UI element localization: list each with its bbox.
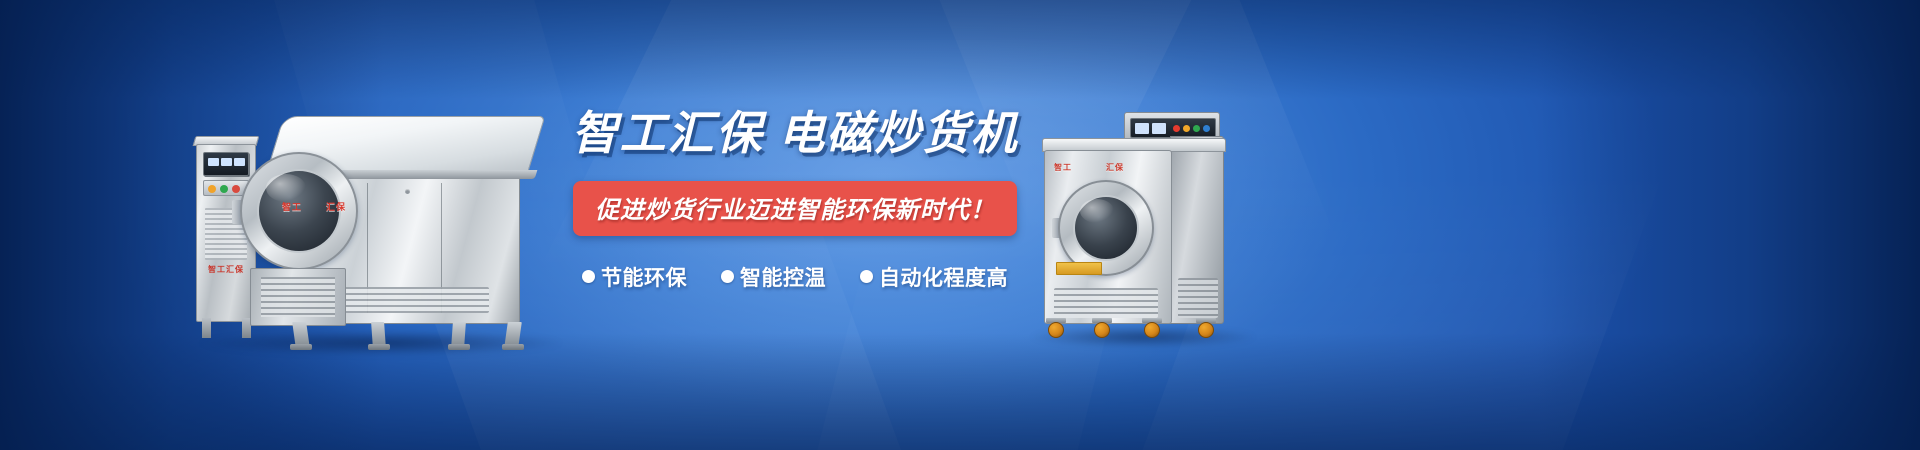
brand-plate: 汇保 (1106, 162, 1124, 173)
brand-plate: 汇保 (326, 200, 346, 213)
drum-highlight (1080, 199, 1114, 223)
promotional-banner: 智工汇保 智工 汇保 (0, 0, 1920, 450)
door-handle (405, 189, 410, 194)
banner-tagline-text: 促进炒货行业迈进智能环保新时代！ (595, 197, 995, 224)
feature-label: 自动化程度高 (879, 262, 1008, 292)
body-vent (1054, 288, 1158, 318)
machine-foot (368, 344, 390, 350)
display-segment (208, 158, 219, 166)
indicator-light (1183, 125, 1190, 132)
banner-copy: 智工汇保 电磁炒货机 促进炒货行业迈进智能环保新时代！ 节能环保 智能控温 自动… (560, 108, 1030, 292)
feature-label: 节能环保 (601, 262, 687, 292)
cabinet-foot (202, 318, 211, 338)
feature-list: 节能环保 智能控温 自动化程度高 (560, 262, 1030, 292)
stand-vent (261, 277, 335, 317)
product-image-roaster-large: 智工汇保 智工 汇保 (176, 96, 546, 348)
caster-wheel (1094, 322, 1110, 338)
side-vent (1178, 278, 1218, 318)
brand-plate: 智工 (282, 200, 302, 213)
machine-foot (448, 344, 470, 350)
indicator-light (232, 185, 240, 193)
indicator-light (1173, 125, 1180, 132)
caster-wheel (1048, 322, 1064, 338)
product-image-roaster-small: 智工 汇保 (1032, 102, 1242, 340)
drum-highlight (266, 174, 306, 202)
bullet-dot-icon (721, 270, 734, 283)
bullet-dot-icon (860, 270, 873, 283)
display-segment (1152, 123, 1166, 134)
machine-foot (502, 344, 524, 350)
feature-item-automation: 自动化程度高 (860, 262, 1008, 292)
machine-foot (290, 344, 312, 350)
display-segment (1135, 123, 1149, 134)
control-panel-display-front (203, 152, 249, 176)
feature-item-energy-saving: 节能环保 (582, 262, 687, 292)
nameplate-label (1056, 262, 1102, 275)
caster-wheel (1144, 322, 1160, 338)
feature-label: 智能控温 (740, 262, 826, 292)
banner-tagline-ribbon: 促进炒货行业迈进智能环保新时代！ (573, 181, 1017, 236)
display-segment (221, 158, 232, 166)
indicator-light (1203, 125, 1210, 132)
drum-stand (250, 268, 346, 326)
indicator-light (208, 185, 216, 193)
display-segment (234, 158, 245, 166)
indicator-light (1193, 125, 1200, 132)
bullet-dot-icon (582, 270, 595, 283)
indicator-light (220, 185, 228, 193)
control-panel-face (1130, 118, 1216, 138)
caster-wheel (1198, 322, 1214, 338)
banner-headline: 智工汇保 电磁炒货机 (560, 108, 1030, 159)
feature-item-smart-temperature: 智能控温 (721, 262, 826, 292)
brand-plate: 智工 (1054, 162, 1072, 173)
cabinet-brand-plate: 智工汇保 (204, 264, 248, 275)
